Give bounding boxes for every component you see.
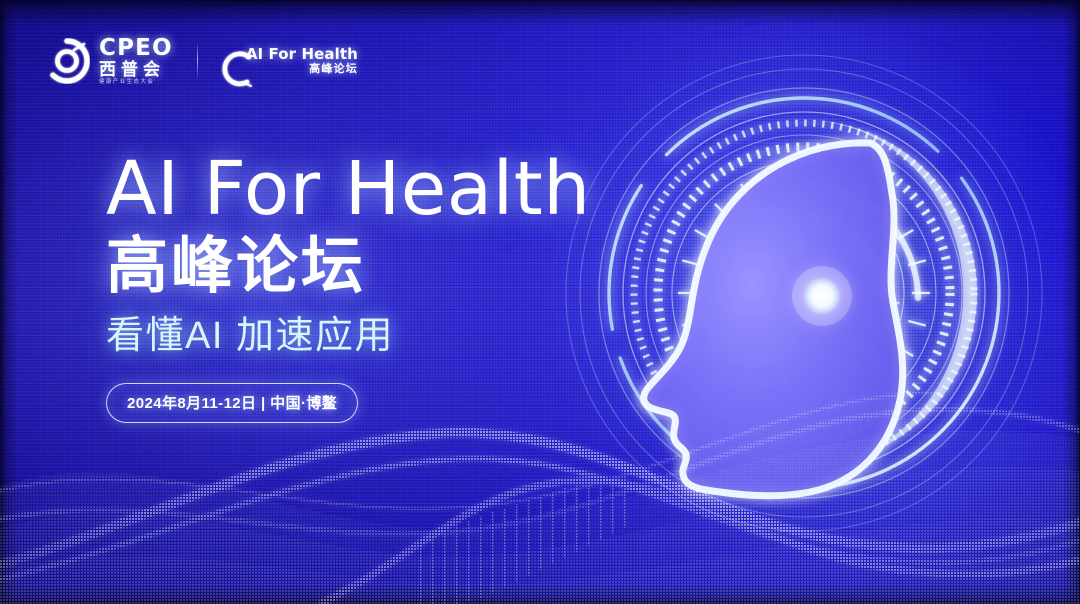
- header-logo-bar: CPEO 西普会 健康产业生态大会 AI For Health 高峰论坛: [44, 30, 358, 92]
- ai-for-health-logo[interactable]: AI For Health 高峰论坛: [222, 47, 358, 75]
- hero-tagline: 看懂AI 加速应用: [106, 316, 591, 358]
- vertical-divider-icon: [197, 42, 198, 80]
- event-date-badge: 2024年8月11-12日 | 中国·博鳌: [106, 383, 358, 423]
- hero-subtitle: 高峰论坛: [106, 233, 591, 301]
- glowing-center-node-icon: [792, 266, 852, 326]
- afh-chinese-text: 高峰论坛: [309, 64, 358, 75]
- cpeo-latin-text: CPEO: [99, 37, 173, 60]
- afh-latin-text: AI For Health: [246, 47, 358, 62]
- page-title: AI For Health: [106, 152, 591, 227]
- cpeo-descriptor-text: 健康产业生态大会: [99, 80, 173, 86]
- cpeo-chinese-text: 西普会: [99, 61, 173, 79]
- c-arc-swoosh-icon: [216, 49, 258, 91]
- cpeo-logo[interactable]: CPEO 西普会 健康产业生态大会: [44, 37, 173, 85]
- cpeo-wordmark: CPEO 西普会 健康产业生态大会: [99, 37, 173, 85]
- hero-block: AI For Health 高峰论坛 看懂AI 加速应用 2024年8月11-1…: [106, 152, 591, 423]
- cpeo-ring-mark-icon: [44, 38, 90, 84]
- event-slide-canvas: CPEO 西普会 健康产业生态大会 AI For Health 高峰论坛 AI …: [0, 0, 1080, 604]
